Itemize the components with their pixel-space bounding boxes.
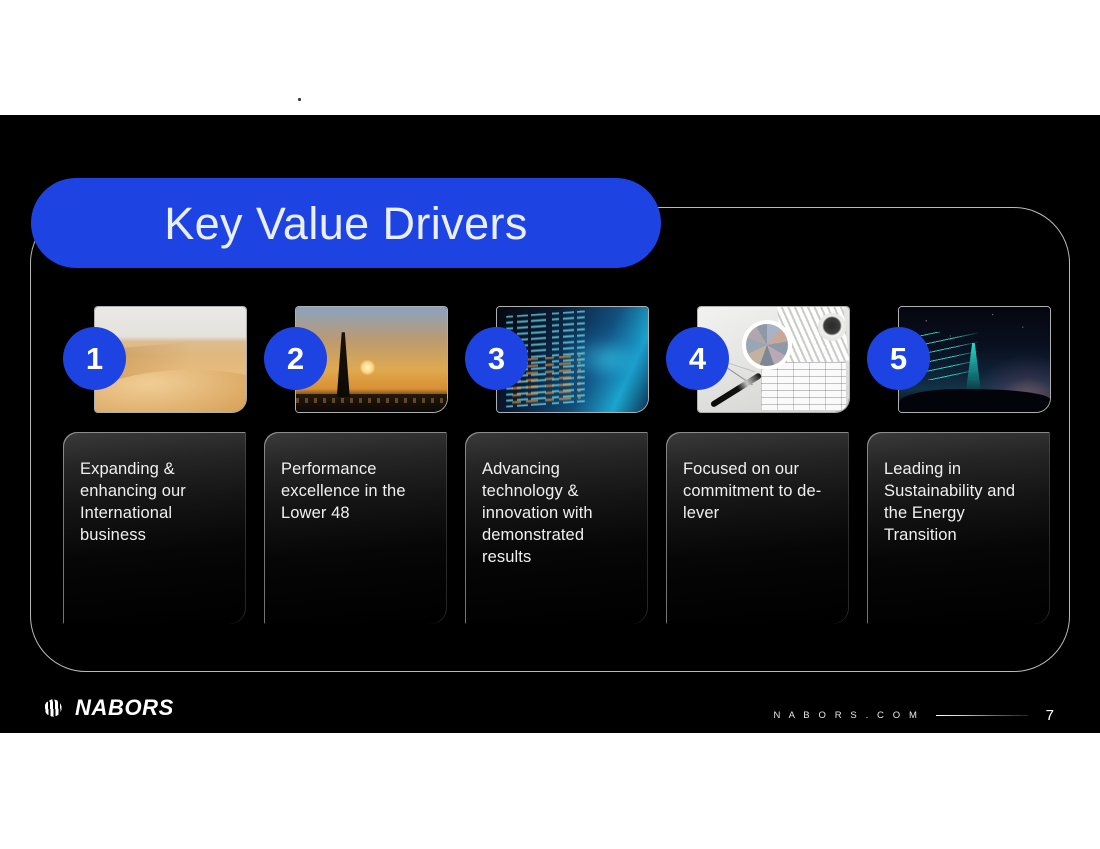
screenshot-page: Key Value Drivers 1 Expanding & enhancin… (0, 0, 1100, 849)
nabors-logo-text: NABORS (75, 695, 174, 721)
driver-card-5[interactable]: Leading in Sustainability and the Energy… (867, 432, 1050, 624)
footer-divider-rule (936, 715, 1028, 717)
cursor-artifact (298, 98, 301, 101)
driver-card-text-1: Expanding & enhancing our International … (80, 458, 230, 546)
driver-card-3[interactable]: Advancing technology & innovation with d… (465, 432, 648, 624)
driver-number-badge-4: 4 (666, 327, 729, 390)
driver-card-text-3: Advancing technology & innovation with d… (482, 458, 632, 568)
driver-number-badge-2: 2 (264, 327, 327, 390)
footer-right-group: N A B O R S . C O M 7 (773, 707, 1054, 724)
driver-number-badge-3: 3 (465, 327, 528, 390)
driver-card-1[interactable]: Expanding & enhancing our International … (63, 432, 246, 624)
driver-card-4[interactable]: Focused on our commitment to de-lever (666, 432, 849, 624)
driver-card-text-4: Focused on our commitment to de-lever (683, 458, 833, 524)
footer-website-url[interactable]: N A B O R S . C O M (773, 710, 920, 721)
value-drivers-row: 1 Expanding & enhancing our Internationa… (63, 307, 1053, 732)
driver-card-2[interactable]: Performance excellence in the Lower 48 (264, 432, 447, 624)
slide-title-pill: Key Value Drivers (31, 178, 661, 268)
nabors-logo[interactable]: NABORS (41, 695, 174, 721)
page-title: Key Value Drivers (164, 201, 528, 246)
driver-card-text-2: Performance excellence in the Lower 48 (281, 458, 431, 524)
driver-number-badge-5: 5 (867, 327, 930, 390)
driver-number-badge-1: 1 (63, 327, 126, 390)
page-number: 7 (1044, 707, 1054, 724)
presentation-slide: Key Value Drivers 1 Expanding & enhancin… (0, 115, 1100, 733)
nabors-circle-logo-icon (41, 696, 65, 720)
driver-card-text-5: Leading in Sustainability and the Energy… (884, 458, 1034, 546)
